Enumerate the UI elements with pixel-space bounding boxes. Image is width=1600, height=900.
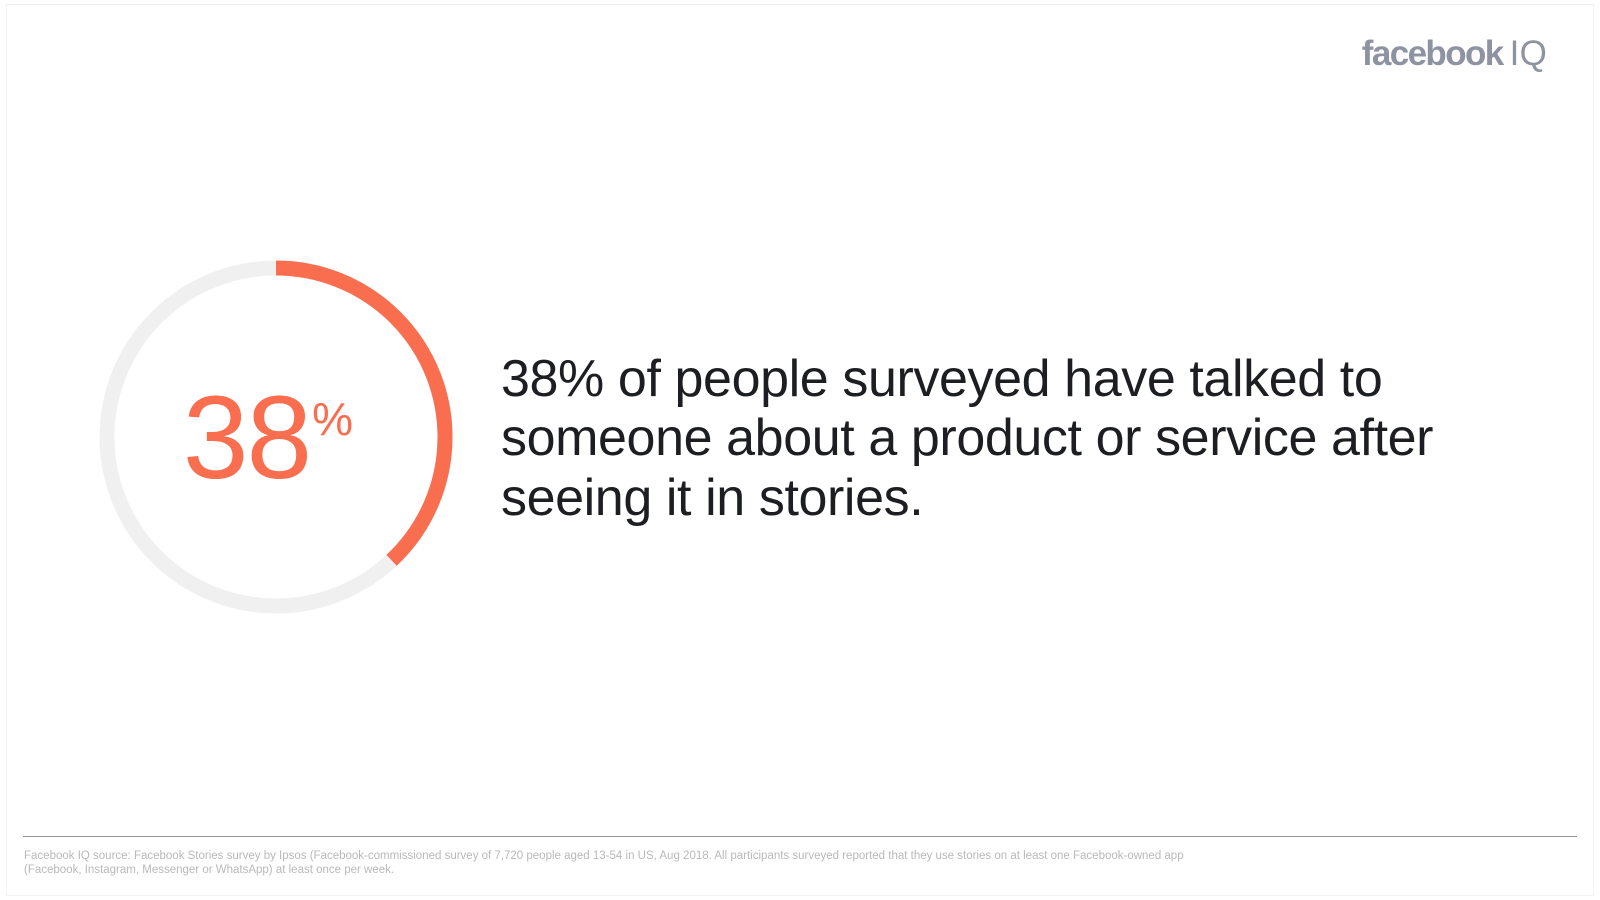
headline-line-3: seeing it in stories. [501, 469, 1431, 528]
slide-canvas: facebookIQ 38 % 38% of people surveyed h… [0, 0, 1600, 900]
donut-chart: 38 % [99, 260, 453, 614]
logo-facebook-wordmark: facebook [1362, 34, 1503, 73]
donut-center-label: 38 % [99, 260, 453, 614]
headline-line-1: 38% of people surveyed have talked to [501, 350, 1431, 409]
stat-percent-symbol: % [312, 396, 353, 442]
facebook-iq-logo: facebookIQ [1362, 36, 1547, 71]
source-footnote: Facebook IQ source: Facebook Stories sur… [24, 850, 1424, 877]
source-footnote-line-1: Facebook IQ source: Facebook Stories sur… [24, 850, 1424, 864]
headline-line-2: someone about a product or service after [501, 409, 1431, 468]
footer-divider [23, 836, 1577, 837]
logo-iq-wordmark: IQ [1510, 34, 1547, 73]
headline-text: 38% of people surveyed have talked to so… [501, 350, 1431, 528]
stat-value: 38 [183, 388, 310, 489]
source-footnote-line-2: (Facebook, Instagram, Messenger or Whats… [24, 864, 1424, 878]
